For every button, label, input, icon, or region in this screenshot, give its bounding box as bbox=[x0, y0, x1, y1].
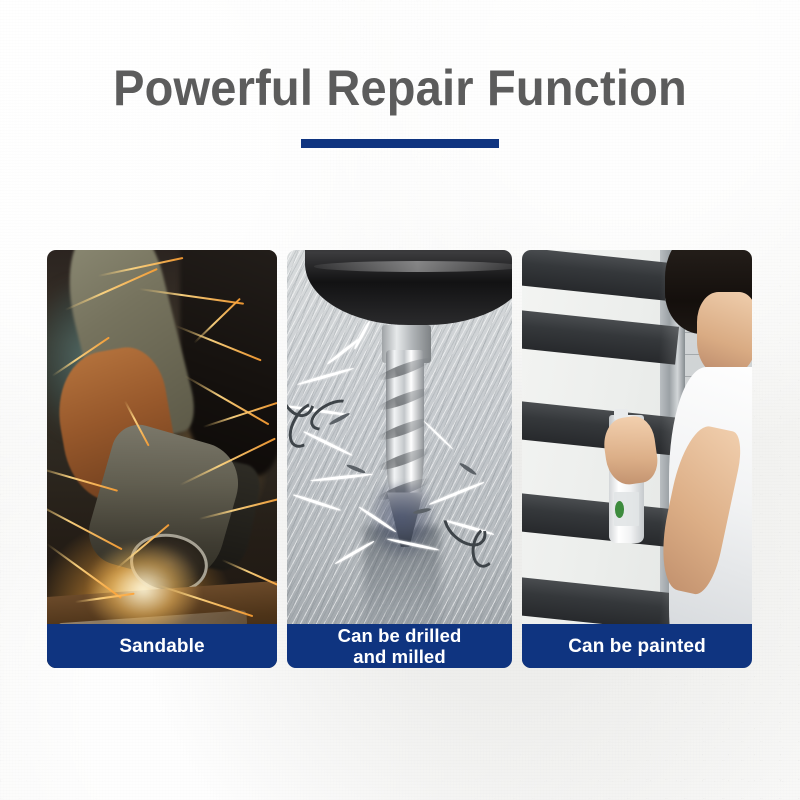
card-caption-sandable: Sandable bbox=[47, 624, 277, 668]
caption-text: Can be drilled and milled bbox=[338, 625, 462, 667]
card-caption-painted: Can be painted bbox=[522, 624, 752, 668]
angle-grinder-photo bbox=[47, 250, 277, 668]
caption-text: Can be painted bbox=[568, 636, 706, 657]
feature-card-painted[interactable]: Can be painted bbox=[522, 250, 752, 668]
feature-card-drilled-milled[interactable]: Can be drilled and milled bbox=[287, 250, 512, 668]
caption-text: Sandable bbox=[119, 636, 204, 657]
header: Powerful Repair Function bbox=[0, 62, 800, 148]
metal-chip-particles bbox=[287, 250, 512, 668]
feature-card-row: Sandable bbox=[47, 250, 752, 668]
spray-painting-photo bbox=[522, 250, 752, 668]
promo-banner: Powerful Repair Function bbox=[0, 0, 800, 800]
feature-card-sandable[interactable]: Sandable bbox=[47, 250, 277, 668]
title-underline-bar bbox=[301, 139, 499, 148]
card-caption-drilled-milled: Can be drilled and milled bbox=[287, 624, 512, 668]
spark-particles bbox=[47, 250, 277, 668]
drill-bit-photo bbox=[287, 250, 512, 668]
page-title: Powerful Repair Function bbox=[24, 62, 776, 115]
